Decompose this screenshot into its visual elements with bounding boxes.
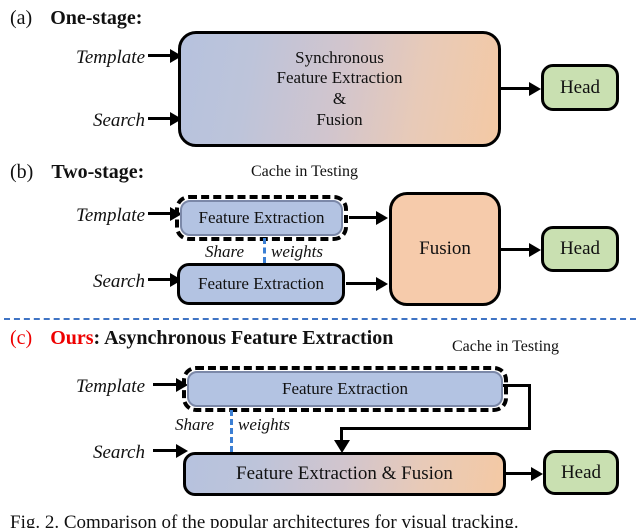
section-a-main-line-2: &: [276, 89, 402, 110]
section-c-search-box-label: Feature Extraction & Fusion: [236, 462, 453, 485]
section-a-title: One-stage:: [50, 7, 142, 29]
section-a-main-line-0: Synchronous: [276, 48, 402, 69]
section-a-search-label: Search: [30, 111, 145, 130]
section-b-share-right: weights: [271, 243, 323, 260]
section-c-search-box: Feature Extraction & Fusion: [183, 452, 506, 496]
section-c-template-box-label: Feature Extraction: [282, 379, 408, 400]
section-c-head-box: Head: [543, 450, 619, 495]
section-b-head-label: Head: [560, 237, 600, 260]
section-a-template-label: Template: [30, 48, 145, 67]
figure-comparison-architectures: (a) One-stage: Template Search Synchrono…: [0, 0, 640, 528]
section-b-template-box: Feature Extraction: [180, 200, 343, 236]
section-a-head-label: Head: [560, 76, 600, 99]
section-c-share-right: weights: [238, 416, 290, 433]
section-c-head-label: Head: [561, 461, 601, 484]
section-c-template-box: Feature Extraction: [187, 371, 503, 407]
section-c-title-highlight: Ours: [50, 327, 93, 349]
section-b-share-weights-connector: [263, 238, 266, 263]
cache-connector-arrow-head: [334, 440, 350, 453]
arrow-c-to-head-head: [531, 467, 543, 481]
section-b-title: Two-stage:: [51, 161, 144, 183]
section-a-main-box-text: Synchronous Feature Extraction & Fusion: [276, 48, 402, 131]
section-b-header: (b) Two-stage:: [10, 162, 144, 182]
section-a-head-box: Head: [541, 64, 619, 111]
section-c-title-rest: : Asynchronous Feature Extraction: [94, 327, 394, 349]
section-b-head-box: Head: [541, 226, 619, 272]
section-b-tag: (b): [10, 161, 33, 183]
section-b-search-box-label: Feature Extraction: [198, 274, 324, 295]
section-b-cache-label: Cache in Testing: [251, 164, 358, 180]
section-c-cache-label: Cache in Testing: [452, 339, 559, 355]
section-b-fusion-label: Fusion: [419, 237, 471, 260]
section-a-tag: (a): [10, 7, 32, 29]
section-a-main-box: Synchronous Feature Extraction & Fusion: [178, 31, 501, 147]
section-a-main-line-3: Fusion: [276, 110, 402, 131]
arrow-a-to-head-head: [529, 82, 541, 96]
section-a-main-line-1: Feature Extraction: [276, 68, 402, 89]
section-a-header: (a) One-stage:: [10, 8, 142, 28]
section-c-tag: (c): [10, 327, 32, 349]
arrow-b-search-to-fusion-head: [376, 277, 388, 291]
section-b-fusion-box: Fusion: [389, 192, 501, 306]
section-b-share-left: Share: [205, 243, 244, 260]
section-c-header: (c) Ours: Asynchronous Feature Extractio…: [10, 328, 393, 348]
section-b-search-box: Feature Extraction: [177, 263, 345, 305]
cache-connector-seg-down-1: [528, 384, 531, 430]
cache-connector-seg-right: [503, 384, 531, 387]
section-b-search-label: Search: [28, 272, 145, 291]
arrow-b-template-to-fusion-head: [376, 211, 388, 225]
section-c-template-label: Template: [25, 377, 145, 396]
section-b-template-label: Template: [28, 206, 145, 225]
section-c-search-label: Search: [25, 443, 145, 462]
section-b-template-box-label: Feature Extraction: [198, 208, 324, 229]
section-divider: [4, 318, 636, 320]
arrow-b-to-head-head: [529, 243, 541, 257]
cache-connector-seg-left: [340, 427, 531, 430]
figure-caption: Fig. 2. Comparison of the popular archit…: [10, 512, 519, 528]
section-c-share-left: Share: [175, 416, 214, 433]
section-c-share-weights-connector: [230, 410, 233, 452]
